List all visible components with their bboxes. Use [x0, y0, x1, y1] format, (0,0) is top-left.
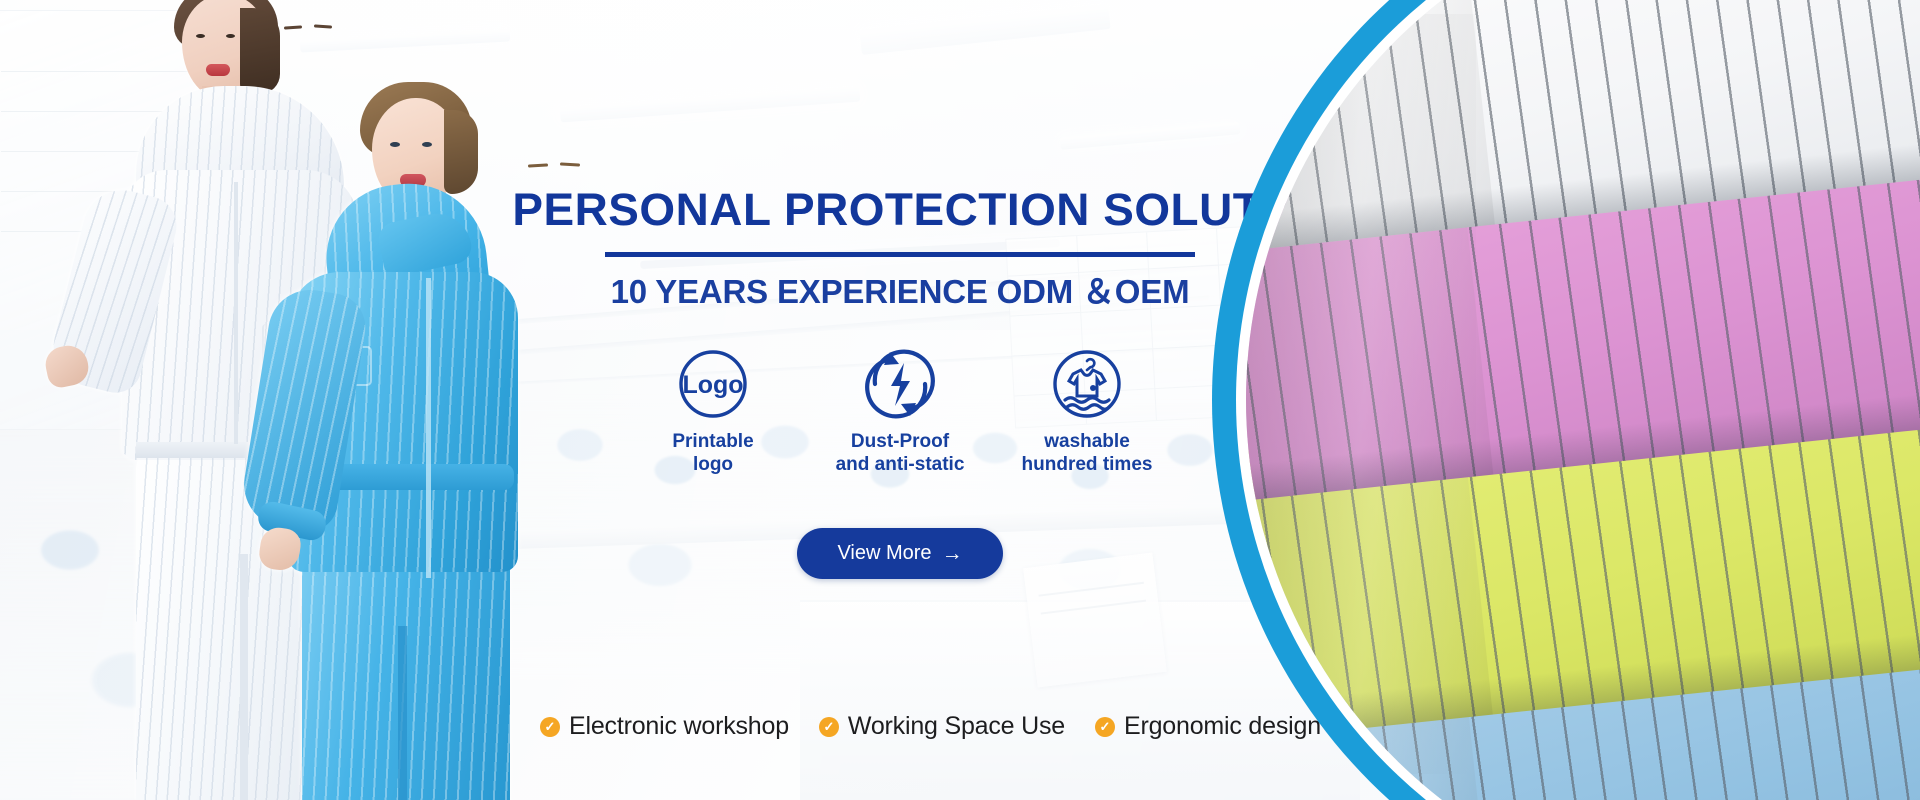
washable-shirt-water-icon	[1051, 348, 1123, 420]
checklist-label: Electronic workshop	[569, 712, 789, 741]
coverall-zipper	[426, 278, 431, 578]
dust-proof-antistatic-icon	[864, 348, 936, 420]
feature-washable: washable hundred times	[1010, 348, 1165, 476]
feature-label: washable hundred times	[1022, 430, 1153, 476]
arrow-right-icon: →	[942, 543, 963, 564]
headline-divider	[605, 252, 1195, 257]
fabric-stack-image	[1246, 0, 1920, 800]
subheadline: 10 YEARS EXPERIENCE ODM ＆OEM	[520, 265, 1280, 313]
eye	[390, 142, 400, 147]
logo-circle-icon: Logo	[677, 348, 749, 420]
svg-text:Logo: Logo	[682, 371, 743, 399]
lips	[206, 64, 230, 76]
feature-list: Logo Printable logo Dust-Proof and anti-…	[550, 348, 1250, 476]
checklist-label: Working Space Use	[848, 712, 1065, 741]
check-circle-icon: ✓	[1095, 717, 1115, 737]
eyebrow	[314, 24, 332, 28]
feature-printable-logo: Logo Printable logo	[636, 348, 791, 476]
fabric-showcase	[1190, 0, 1920, 800]
hair-side	[444, 110, 478, 194]
eye	[422, 142, 432, 147]
eye	[226, 34, 235, 38]
leg-split	[398, 626, 407, 800]
checklist-item: ✓ Working Space Use	[819, 712, 1065, 741]
checklist-item: ✓ Electronic workshop	[540, 712, 789, 741]
check-circle-icon: ✓	[819, 717, 839, 737]
cta-area: View More →	[520, 528, 1280, 579]
check-circle-icon: ✓	[540, 717, 560, 737]
eye	[196, 34, 205, 38]
view-more-button[interactable]: View More →	[797, 528, 1002, 579]
banner-copy: PERSONAL PROTECTION SOLUTIONS 10 YEARS E…	[520, 0, 1280, 800]
feature-dust-proof: Dust-Proof and anti-static	[823, 348, 978, 476]
fabric-edge-shadow	[1246, 14, 1476, 774]
feature-label: Dust-Proof and anti-static	[836, 430, 965, 476]
headline: PERSONAL PROTECTION SOLUTIONS	[512, 184, 1287, 236]
model-photos	[0, 0, 560, 800]
eyebrow	[284, 25, 302, 29]
feature-label: Printable logo	[672, 430, 753, 476]
model-blue-esd-suit	[230, 66, 540, 800]
hero-banner: PERSONAL PROTECTION SOLUTIONS 10 YEARS E…	[0, 0, 1920, 800]
view-more-label: View More	[837, 542, 931, 565]
